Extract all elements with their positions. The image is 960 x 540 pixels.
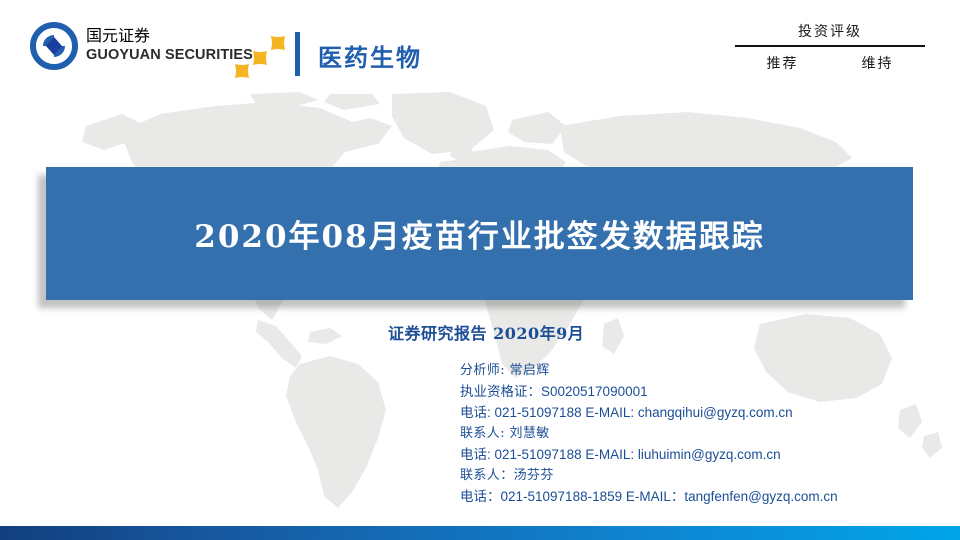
guoyuan-circular-logo-icon [30, 22, 78, 70]
rating-title: 投资评级 [735, 22, 925, 45]
analyst-name: 分析师: 常启辉 [460, 360, 838, 381]
company-name-cn: 国元证券 [86, 22, 253, 46]
bottom-accent-bar [0, 526, 960, 540]
analyst-license: 执业资格证：S0020517090001 [460, 381, 838, 402]
contact-person-1-name: 联系人: 刘慧敏 [460, 423, 838, 444]
contact-person-1-contact: 电话: 021-51097188 E-MAIL: liuhuimin@gyzq.… [460, 444, 838, 465]
rating-values: 推荐 维持 [735, 47, 925, 73]
analyst-contact: 电话: 021-51097188 E-MAIL: changqihui@gyzq… [460, 402, 838, 423]
contact-person-2-contact: 电话：021-51097188-1859 E-MAIL：tangfenfen@g… [460, 486, 838, 507]
slide-header: 国元证券 GUOYUAN SECURITIES 医药生物 投资评级 推荐 维持 [0, 0, 960, 100]
company-name-en: GUOYUAN SECURITIES [86, 47, 253, 63]
rating-value: 推荐 [767, 53, 799, 73]
title-banner: 2020年08月疫苗行业批签发数据跟踪 [46, 167, 913, 300]
vertical-blue-divider-icon [295, 32, 300, 76]
rating-status: 维持 [862, 53, 894, 73]
brand-block: 国元证券 GUOYUAN SECURITIES [30, 22, 253, 70]
wordmark: 国元证券 GUOYUAN SECURITIES [86, 22, 253, 63]
contact-person-2-name: 联系人：汤芬芬 [460, 465, 838, 486]
sector-label: 医药生物 [318, 38, 422, 73]
contact-block: 分析师: 常启辉执业资格证：S0020517090001电话: 021-5109… [460, 360, 838, 507]
presentation-slide: 国元证券 GUOYUAN SECURITIES 医药生物 投资评级 推荐 维持 … [0, 0, 960, 540]
report-subtitle: 证券研究报告 2020年9月 [388, 320, 584, 344]
three-ascending-yellow-squares-icon [231, 30, 293, 78]
report-title: 2020年08月疫苗行业批签发数据跟踪 [194, 211, 764, 256]
investment-rating-box: 投资评级 推荐 维持 [735, 22, 925, 73]
